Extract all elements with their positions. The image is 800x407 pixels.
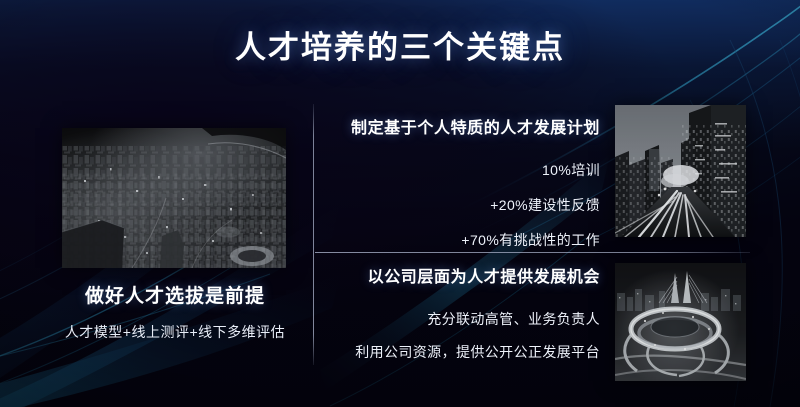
- list-item: 充分联动高管、业务负责人: [300, 309, 600, 329]
- bottom-right-heading: 以公司层面为人才提供发展机会: [300, 263, 600, 287]
- aerial-city-night-photo: [62, 128, 286, 268]
- top-right-heading: 制定基于个人特质的人才发展计划: [300, 114, 600, 138]
- city-street-light-trails-photo: [615, 105, 746, 237]
- top-right-text-block: 制定基于个人特质的人才发展计划 10%培训 +20%建设性反馈 +70%有挑战性…: [300, 114, 600, 265]
- circular-highway-interchange-photo: [615, 263, 746, 381]
- bottom-right-line-list: 充分联动高管、业务负责人 利用公司资源，提供公开公正发展平台: [300, 309, 600, 362]
- left-heading: 做好人才选拔是前提: [0, 281, 350, 308]
- page-title: 人才培养的三个关键点: [0, 22, 800, 67]
- left-subtitle: 人才模型+线上测评+线下多维评估: [0, 322, 350, 342]
- left-text-block: 做好人才选拔是前提 人才模型+线上测评+线下多维评估: [0, 281, 350, 342]
- slide-canvas: 人才培养的三个关键点: [0, 0, 800, 407]
- bottom-right-text-block: 以公司层面为人才提供发展机会 充分联动高管、业务负责人 利用公司资源，提供公开公…: [300, 263, 600, 375]
- list-item: +20%建设性反馈: [300, 195, 600, 215]
- list-item: 利用公司资源，提供公开公正发展平台: [300, 342, 600, 362]
- list-item: 10%培训: [300, 160, 600, 180]
- top-right-line-list: 10%培训 +20%建设性反馈 +70%有挑战性的工作: [300, 160, 600, 250]
- list-item: +70%有挑战性的工作: [300, 230, 600, 250]
